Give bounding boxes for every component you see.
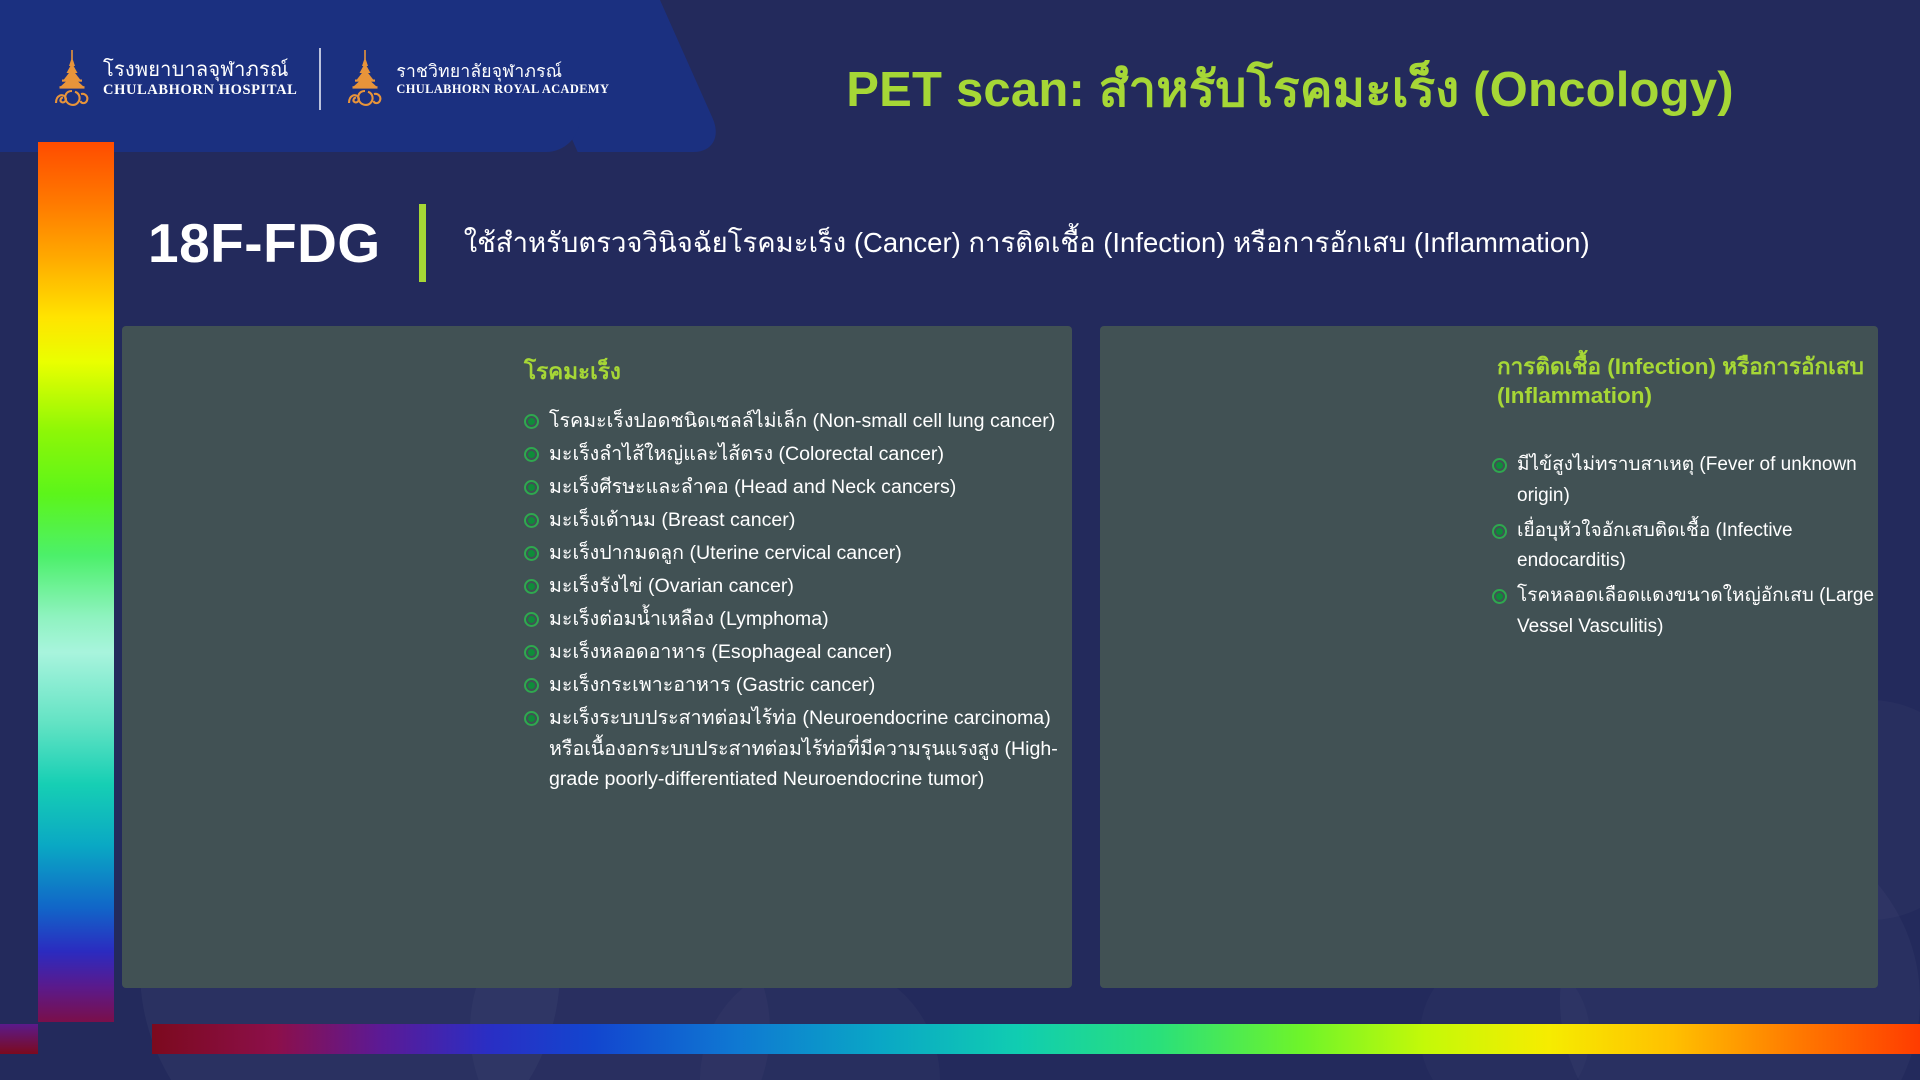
green-radio-bullet-icon [1492,589,1507,604]
list-item-label: มะเร็งศีรษะและลำคอ (Head and Neck cancer… [549,472,1064,503]
vertical-accent-divider [419,204,426,282]
green-radio-bullet-icon [1492,458,1507,473]
list-item: มะเร็งรังไข่ (Ovarian cancer) [524,571,1064,602]
list-item-label: มะเร็งปากมดลูก (Uterine cervical cancer) [549,538,1064,569]
list-item: มะเร็งลำไส้ใหญ่และไส้ตรง (Colorectal can… [524,439,1064,470]
academy-logo-unit: ราชวิทยาลัยจุฬาภรณ์ CHULABHORN ROYAL ACA… [343,50,609,108]
list-item-label: โรคหลอดเลือดแดงขนาดใหญ่อักเสบ (Large Ves… [1517,581,1877,643]
list-item: โรคมะเร็งปอดชนิดเซลล์ไม่เล็ก (Non-small … [524,406,1064,437]
logo-divider [319,48,321,110]
list-item: มะเร็งเต้านม (Breast cancer) [524,505,1064,536]
green-radio-bullet-icon [524,579,539,594]
green-radio-bullet-icon [524,447,539,462]
chulabhorn-pagoda-logo-icon [343,50,387,108]
list-item-label: มีไข้สูงไม่ทราบสาเหตุ (Fever of unknown … [1517,450,1877,512]
list-item: มีไข้สูงไม่ทราบสาเหตุ (Fever of unknown … [1492,450,1877,512]
green-radio-bullet-icon [1492,524,1507,539]
academy-name-en: CHULABHORN ROYAL ACADEMY [396,83,609,95]
green-radio-bullet-icon [524,546,539,561]
list-item: มะเร็งระบบประสาทต่อมไร้ท่อ (Neuroendocri… [524,703,1064,796]
green-radio-bullet-icon [524,414,539,429]
list-item-label: มะเร็งระบบประสาทต่อมไร้ท่อ (Neuroendocri… [549,703,1064,796]
chulabhorn-pagoda-logo-icon [50,50,94,108]
list-item: มะเร็งปากมดลูก (Uterine cervical cancer) [524,538,1064,569]
hospital-logo-unit: โรงพยาบาลจุฬาภรณ์ CHULABHORN HOSPITAL [50,50,297,108]
infection-panel-heading: การติดเชื้อ (Infection) หรือการอักเสบ (I… [1497,353,1869,411]
green-radio-bullet-icon [524,513,539,528]
tracer-description: ใช้สำหรับตรวจวินิจฉัยโรคมะเร็ง (Cancer) … [464,226,1590,260]
colorbar-left-cap [0,1024,38,1054]
list-item-label: มะเร็งเต้านม (Breast cancer) [549,505,1064,536]
list-item-label: มะเร็งลำไส้ใหญ่และไส้ตรง (Colorectal can… [549,439,1064,470]
list-item-label: โรคมะเร็งปอดชนิดเซลล์ไม่เล็ก (Non-small … [549,406,1064,437]
list-item: มะเร็งหลอดอาหาร (Esophageal cancer) [524,637,1064,668]
list-item: โรคหลอดเลือดแดงขนาดใหญ่อักเสบ (Large Ves… [1492,581,1877,643]
oncology-panel-heading: โรคมะเร็ง [524,358,994,387]
list-item-label: มะเร็งหลอดอาหาร (Esophageal cancer) [549,637,1064,668]
tracer-name: 18F-FDG [148,211,381,275]
brand-logos: โรงพยาบาลจุฬาภรณ์ CHULABHORN HOSPITAL [50,48,609,110]
list-item: มะเร็งศีรษะและลำคอ (Head and Neck cancer… [524,472,1064,503]
green-radio-bullet-icon [524,480,539,495]
green-radio-bullet-icon [524,711,539,726]
green-radio-bullet-icon [524,645,539,660]
list-item-label: เยื่อบุหัวใจอักเสบติดเชื้อ (Infective en… [1517,516,1877,578]
hospital-name-en: CHULABHORN HOSPITAL [103,83,297,98]
list-item-label: มะเร็งต่อมน้ำเหลือง (Lymphoma) [549,604,1064,635]
green-radio-bullet-icon [524,612,539,627]
oncology-list: โรคมะเร็งปอดชนิดเซลล์ไม่เล็ก (Non-small … [524,406,1064,797]
infection-list: มีไข้สูงไม่ทราบสาเหตุ (Fever of unknown … [1492,450,1877,647]
pet-intensity-colorbar-horizontal [152,1024,1920,1054]
list-item-label: มะเร็งรังไข่ (Ovarian cancer) [549,571,1064,602]
page-title: PET scan: สำหรับโรคมะเร็ง (Oncology) [700,64,1880,118]
list-item: มะเร็งต่อมน้ำเหลือง (Lymphoma) [524,604,1064,635]
hospital-name-th: โรงพยาบาลจุฬาภรณ์ [103,60,297,80]
green-radio-bullet-icon [524,678,539,693]
tracer-summary-row: 18F-FDG ใช้สำหรับตรวจวินิจฉัยโรคมะเร็ง (… [148,198,1888,288]
pet-intensity-colorbar-vertical [38,142,114,1022]
infection-panel [1100,326,1878,988]
academy-name-th: ราชวิทยาลัยจุฬาภรณ์ [396,63,609,81]
list-item: มะเร็งกระเพาะอาหาร (Gastric cancer) [524,670,1064,701]
list-item: เยื่อบุหัวใจอักเสบติดเชื้อ (Infective en… [1492,516,1877,578]
list-item-label: มะเร็งกระเพาะอาหาร (Gastric cancer) [549,670,1064,701]
